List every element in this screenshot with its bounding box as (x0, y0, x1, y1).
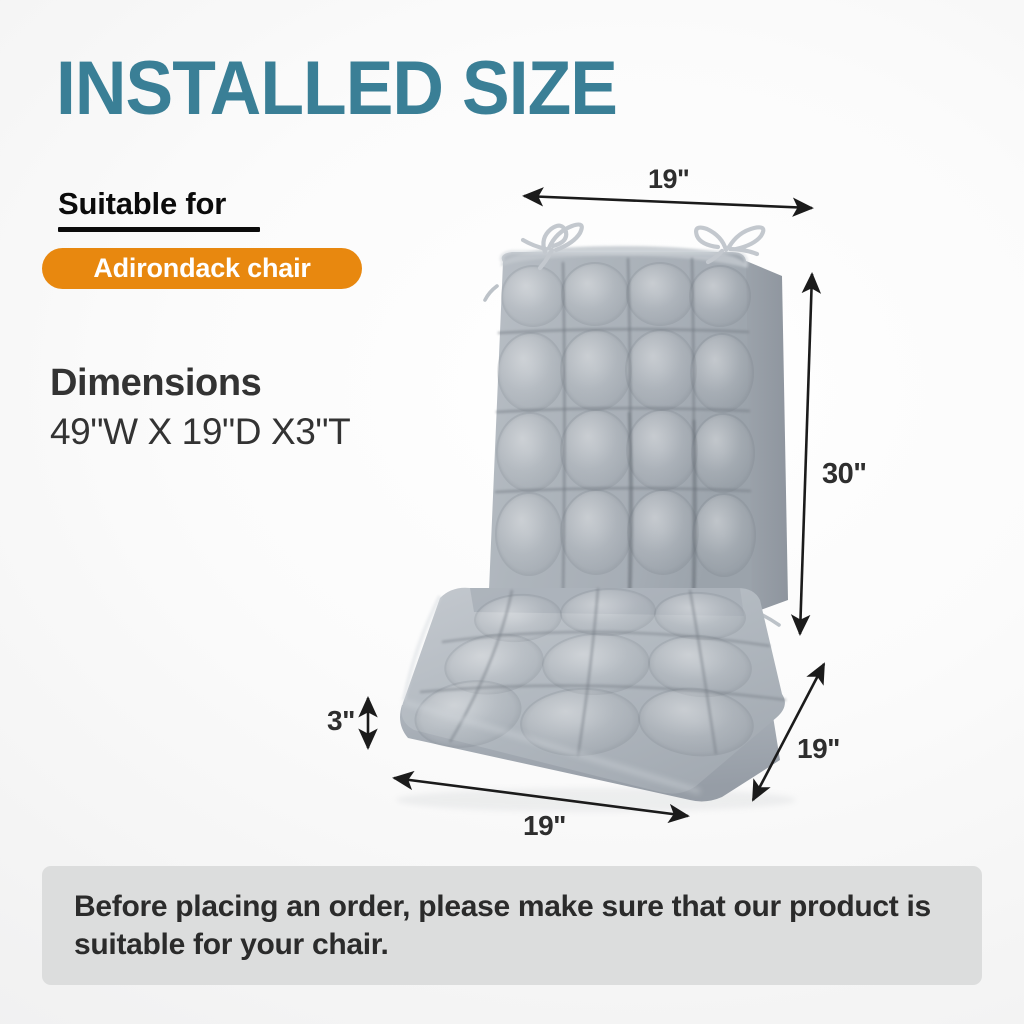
dim-arrow-top-width (524, 196, 812, 208)
dimension-label-bottom-width: 19" (523, 810, 566, 842)
notice-box: Before placing an order, please make sur… (42, 866, 982, 985)
back-cushion (485, 225, 788, 625)
dimension-label-back-height: 30" (822, 458, 867, 491)
dimension-label-seat-thickness: 3" (327, 705, 355, 737)
notice-text: Before placing an order, please make sur… (74, 888, 954, 964)
dimension-label-top-width: 19" (648, 164, 689, 195)
infographic-page: INSTALLED SIZE Suitable for Adirondack c… (0, 0, 1024, 1024)
dim-arrow-back-height (800, 274, 812, 634)
dimension-label-seat-depth: 19" (797, 733, 840, 765)
seat-cushion (396, 586, 796, 812)
